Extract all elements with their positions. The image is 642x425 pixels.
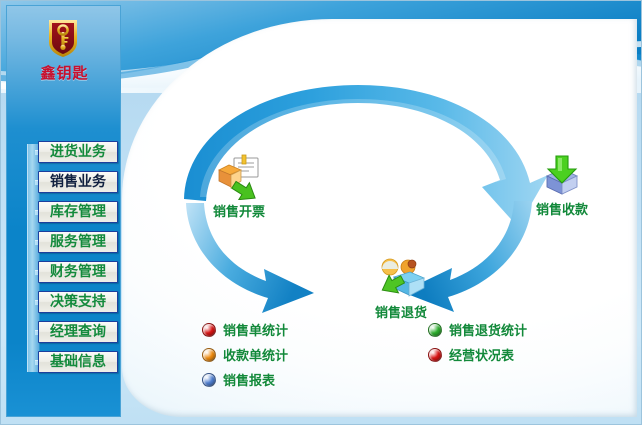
legend-column-right: 销售退货统计 经营状况表 [428, 317, 527, 367]
status-dot-red [202, 323, 216, 337]
sidebar-item-purchase-business[interactable]: 进货业务 [38, 141, 118, 163]
status-dot-red [428, 348, 442, 362]
sidebar-item-basic-information[interactable]: 基础信息 [38, 351, 118, 373]
legend-item-receipt-statistics[interactable]: 收款单统计 [202, 342, 288, 367]
application-window: 销售开票 销售收款 [0, 0, 642, 425]
sidebar-item-decision-support[interactable]: 决策支持 [38, 291, 118, 313]
node-label: 销售开票 [184, 201, 294, 220]
invoice-green-arrow-icon [211, 154, 267, 200]
key-shield-logo-icon [47, 18, 79, 58]
status-dot-orange [202, 348, 216, 362]
brand-name: 鑫钥匙 [7, 62, 121, 83]
left-sidebar: 鑫钥匙 进货业务 销售业务 库存管理 服务管理 财务管理 决策支持 经理查询 基… [6, 5, 121, 417]
legend-label: 销售报表 [223, 370, 275, 389]
legend-label: 经营状况表 [449, 345, 514, 364]
legend-label: 销售单统计 [223, 320, 288, 339]
sidebar-item-service-management[interactable]: 服务管理 [38, 231, 118, 253]
sidebar-item-finance-management[interactable]: 财务管理 [38, 261, 118, 283]
legend-item-sales-order-statistics[interactable]: 销售单统计 [202, 317, 288, 342]
brand-area: 鑫钥匙 [7, 6, 120, 92]
main-content-panel: 销售开票 销售收款 [122, 19, 637, 417]
sidebar-menu: 进货业务 销售业务 库存管理 服务管理 财务管理 决策支持 经理查询 基础信息 [38, 141, 118, 381]
workflow-node-sales-return[interactable]: 销售退货 [346, 255, 456, 321]
status-dot-green [428, 323, 442, 337]
legend-item-sales-report[interactable]: 销售报表 [202, 367, 288, 392]
legend-label: 收款单统计 [223, 345, 288, 364]
legend-item-sales-return-statistics[interactable]: 销售退货统计 [428, 317, 527, 342]
box-down-arrow-icon [537, 152, 587, 198]
sidebar-item-manager-query[interactable]: 经理查询 [38, 321, 118, 343]
legend-label: 销售退货统计 [449, 320, 527, 339]
node-label: 销售收款 [507, 199, 617, 218]
workflow-node-sales-receipt[interactable]: 销售收款 [507, 152, 617, 218]
status-dot-blue [202, 373, 216, 387]
sidebar-item-sales-business[interactable]: 销售业务 [38, 171, 118, 193]
legend-item-business-status-report[interactable]: 经营状况表 [428, 342, 527, 367]
workflow-node-sales-invoice[interactable]: 销售开票 [184, 154, 294, 220]
legend-column-left: 销售单统计 收款单统计 销售报表 [202, 317, 288, 392]
return-goods-icon [372, 255, 430, 301]
sidebar-item-inventory-management[interactable]: 库存管理 [38, 201, 118, 223]
